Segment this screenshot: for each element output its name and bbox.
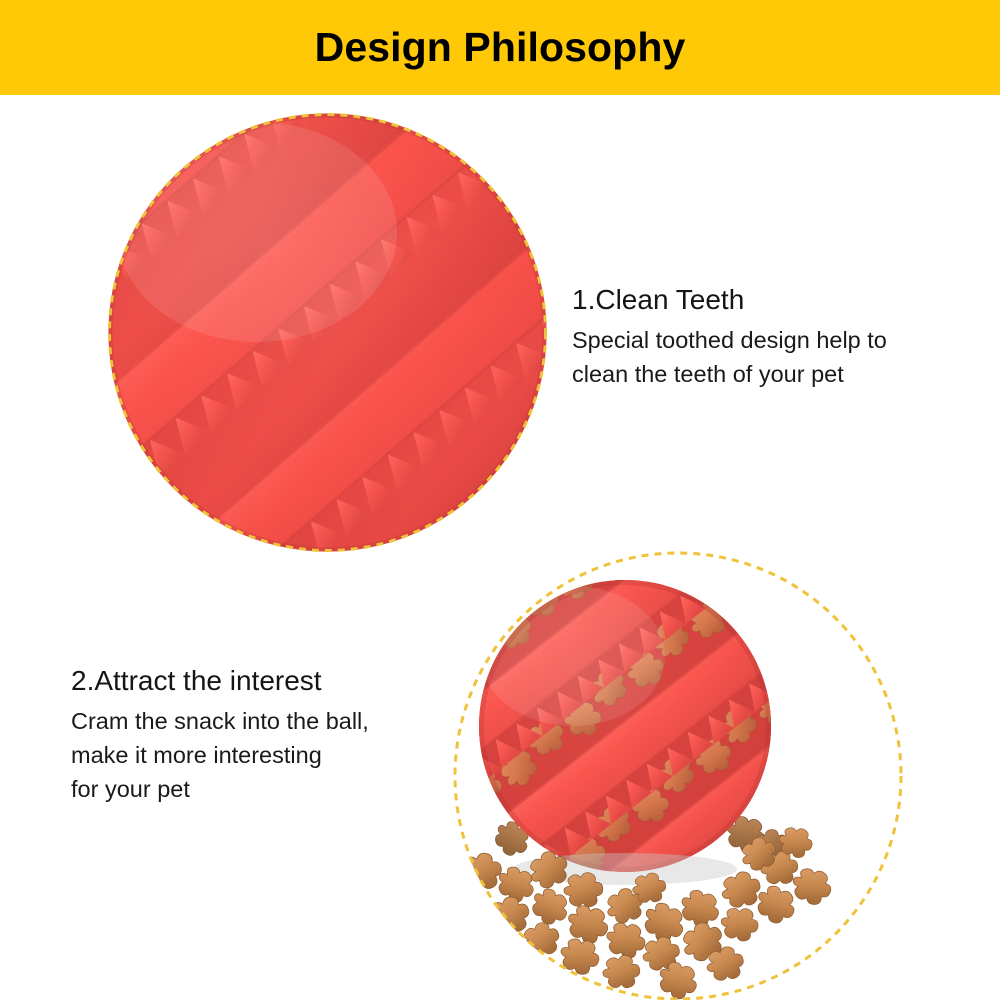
photo-red-toothed-ball — [107, 112, 548, 553]
dashed-circle-outline-3 — [233, 992, 429, 1000]
feature-block-attract-the-interest: 2.Attract the interest Cram the snack in… — [71, 664, 369, 806]
feature-2-body-line-2: make it more interesting — [71, 738, 369, 772]
feature-block-clean-teeth: 1.Clean Teeth Special toothed design hel… — [572, 283, 887, 391]
feature-1-body-line-1: Special toothed design help to — [572, 323, 887, 357]
ball-with-kibble-image — [453, 551, 903, 1000]
feature-1-body-line-2: clean the teeth of your pet — [572, 357, 887, 391]
feature-2-heading: 2.Attract the interest — [71, 664, 369, 698]
header-banner: Design Philosophy — [0, 0, 1000, 95]
red-toothed-ball-image — [107, 112, 548, 553]
feature-2-body-line-3: for your pet — [71, 772, 369, 806]
page-root: Design Philosophy — [0, 0, 1000, 1000]
photo-ball-with-kibble — [453, 551, 903, 1000]
photo-next-circle-peek — [233, 992, 429, 1000]
feature-1-heading: 1.Clean Teeth — [572, 283, 887, 317]
page-title: Design Philosophy — [315, 27, 686, 68]
feature-2-body-line-1: Cram the snack into the ball, — [71, 704, 369, 738]
